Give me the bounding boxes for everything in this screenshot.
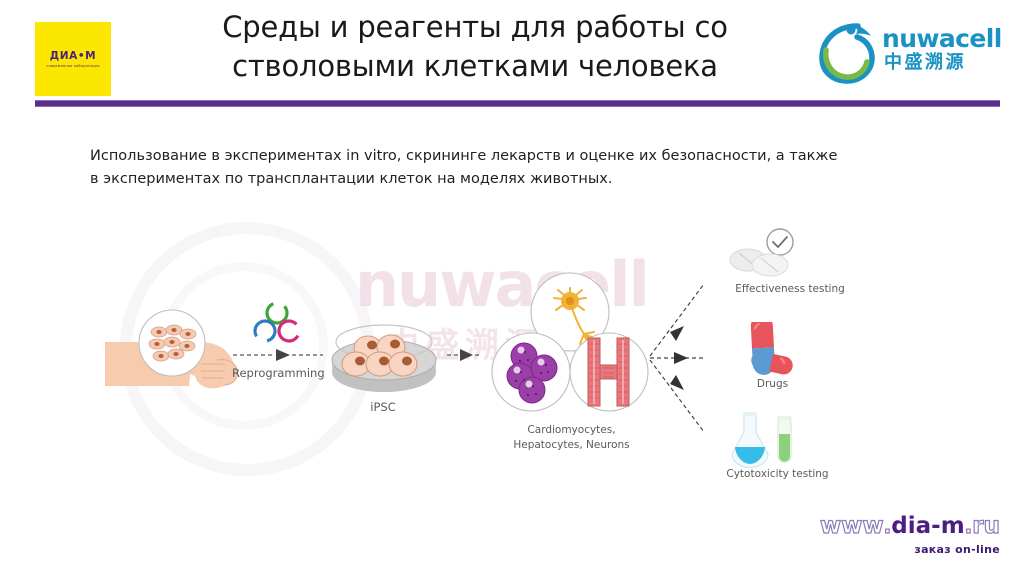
url-prefix: www: [820, 513, 884, 539]
outcome-label-cytotoxicity: Cytotoxicity testing: [690, 468, 865, 480]
derived-cells-label: Cardiomyocytes, Hepatocytes, Neurons: [494, 423, 649, 453]
blood-cells-circle-icon: [137, 308, 207, 378]
capsule-icon: [736, 322, 798, 378]
derived-cells-label-line1: Cardiomyocytes,: [527, 424, 615, 436]
derived-cell-types-icon: [484, 272, 656, 420]
page-title: Среды и реагенты для работы со стволовым…: [150, 8, 800, 86]
footer: www.dia-m.ru заказ on-line: [645, 515, 1000, 563]
nuwacell-logo: nuwacell 中盛溯源: [818, 18, 1008, 90]
reprogramming-label: Reprogramming: [232, 366, 324, 380]
nuwacell-logo-chinese: 中盛溯源: [884, 54, 966, 72]
ipsc-label: iPSC: [338, 400, 428, 414]
footer-tagline: заказ on-line: [645, 543, 1000, 556]
dia-m-logo: ДИА•М современная лаборатория: [35, 22, 111, 96]
dia-m-logo-tagline: современная лаборатория: [46, 64, 99, 68]
plasmid-rings-icon: [248, 300, 306, 348]
derived-cells-label-line2: Hepatocytes, Neurons: [513, 439, 629, 451]
branching-arrows-icon: [648, 268, 708, 448]
nuwacell-swoosh-icon: [818, 20, 880, 84]
header-divider: [35, 100, 1000, 107]
differentiation-arrow-icon: [446, 348, 482, 362]
nuwacell-logo-name: nuwacell: [882, 26, 1002, 51]
site-url[interactable]: www.dia-m.ru: [645, 515, 1000, 538]
slide-root: ДИА•М современная лаборатория Среды и ре…: [0, 0, 1024, 576]
outcome-label-drugs: Drugs: [700, 378, 845, 390]
url-domain: dia-m: [891, 513, 964, 539]
flask-tube-icon: [724, 412, 800, 470]
dia-m-logo-text: ДИА•М: [50, 51, 96, 62]
pills-check-icon: [722, 228, 798, 282]
subtitle-text: Использование в экспериментах in vitro, …: [90, 145, 838, 192]
outcome-label-effectiveness: Effectiveness testing: [700, 283, 880, 295]
reprogramming-arrow-icon: [232, 348, 324, 362]
url-tld: ru: [972, 513, 1000, 539]
petri-dish-ipsc-icon: [328, 322, 440, 400]
